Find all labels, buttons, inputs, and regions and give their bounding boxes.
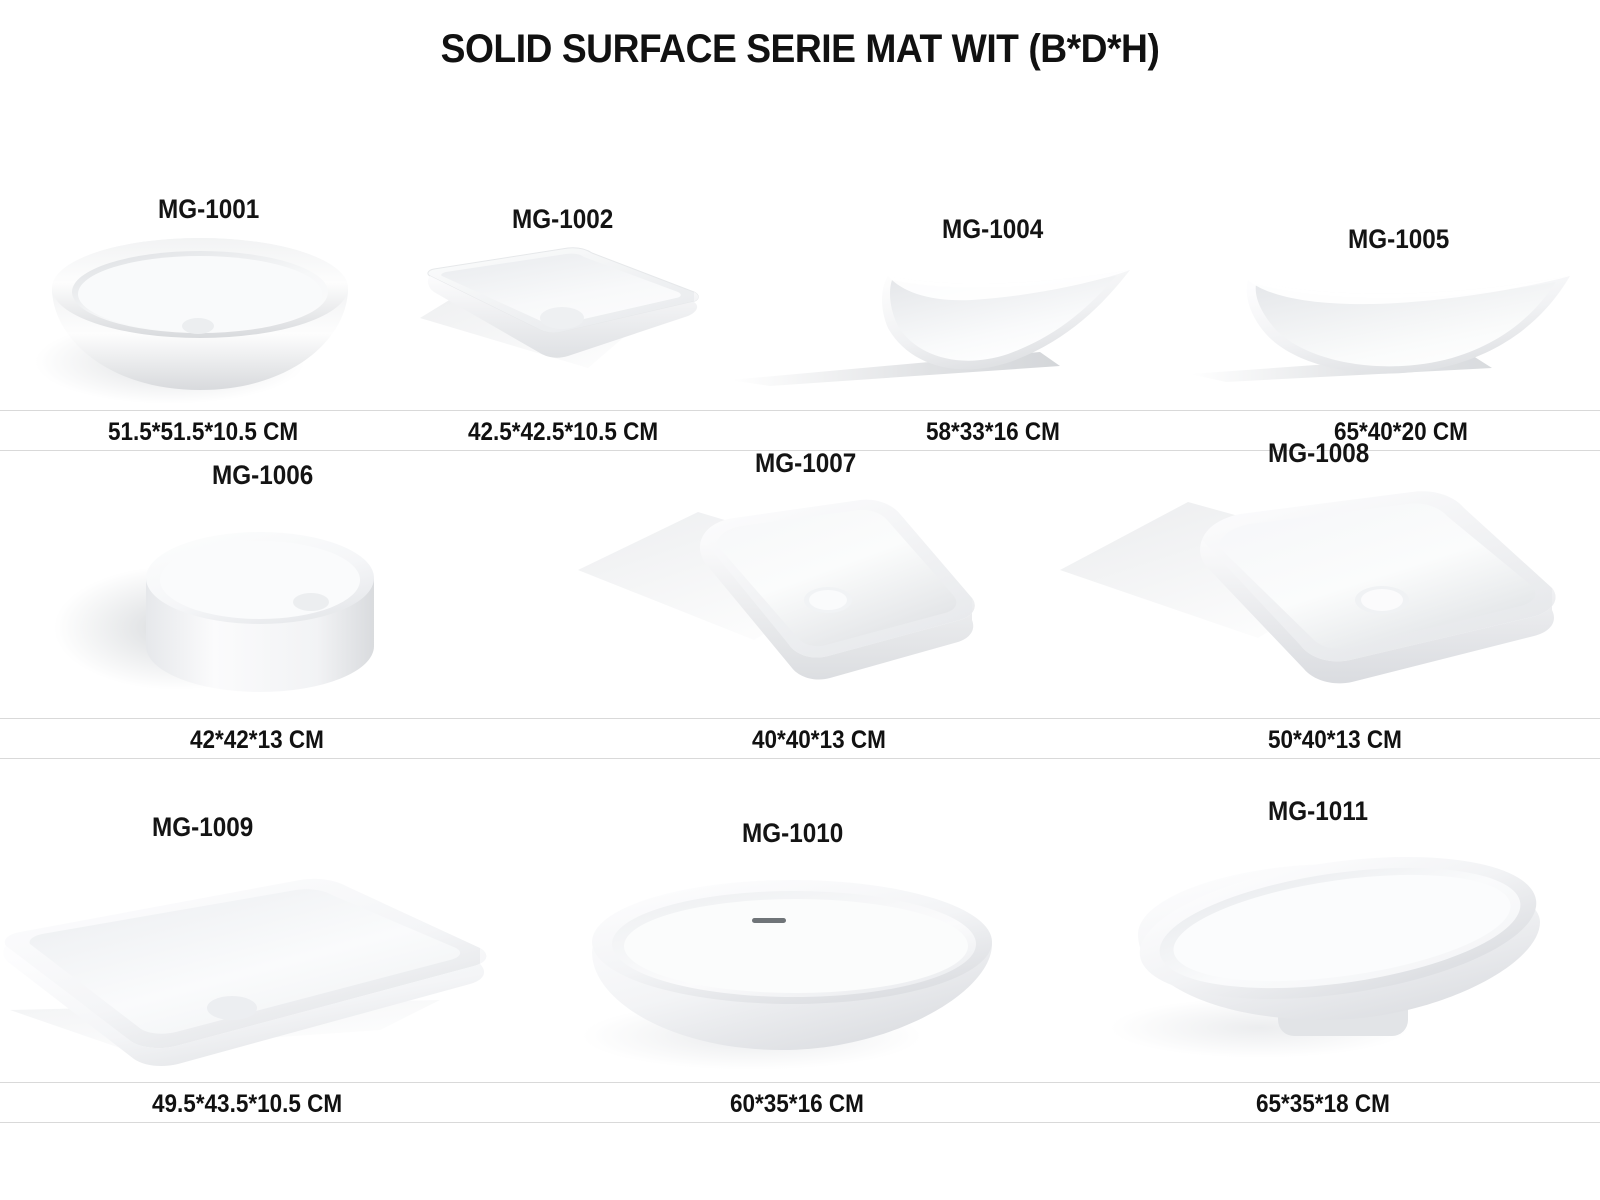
row-divider (0, 1122, 1600, 1123)
product-code-label: MG-1004 (942, 214, 1043, 245)
product-dimension-label: 42*42*13 CM (190, 726, 324, 755)
product-dimension-label: 50*40*13 CM (1268, 726, 1402, 755)
product-code-label: MG-1006 (212, 460, 313, 491)
basin-image-round-bowl (30, 230, 370, 410)
basin-image-wide-rectangle (0, 860, 500, 1080)
basin-image-deep-boat (1170, 250, 1590, 395)
basin-image-cylinder (46, 500, 446, 710)
product-cell-mg-1009: MG-1009 (0, 782, 520, 1082)
dimension-band-row-2: 42*42*13 CM 40*40*13 CM 50*40*13 CM (0, 719, 1600, 757)
basin-image-rectangle (1060, 484, 1580, 704)
basin-image-oval-egg (562, 860, 1022, 1080)
row-divider (0, 758, 1600, 759)
basin-image-boat-leaf (710, 244, 1150, 394)
product-cell-mg-1010: MG-1010 (520, 782, 1060, 1082)
basin-image-rounded-square (578, 490, 998, 700)
page-title: SOLID SURFACE SERIE MAT WIT (B*D*H) (56, 0, 1544, 70)
product-cell-mg-1008: MG-1008 (1040, 428, 1600, 718)
product-code-label: MG-1009 (152, 812, 253, 843)
product-code-label: MG-1001 (158, 194, 259, 225)
product-code-label: MG-1010 (742, 818, 843, 849)
product-code-label: MG-1007 (755, 448, 856, 479)
product-dimension-label: 40*40*13 CM (752, 726, 886, 755)
product-cell-mg-1006: MG-1006 (0, 428, 470, 718)
product-code-label: MG-1008 (1268, 438, 1369, 469)
basin-image-oval-pedestal (1100, 844, 1560, 1074)
dimension-band-row-3: 49.5*43.5*10.5 CM 60*35*16 CM 65*35*18 C… (0, 1083, 1600, 1121)
product-cell-mg-1005: MG-1005 (1170, 182, 1600, 412)
product-cell-mg-1007: MG-1007 (470, 428, 1040, 718)
product-cell-mg-1004: MG-1004 (730, 182, 1170, 412)
basin-image-square-bowl (412, 240, 722, 400)
product-cell-mg-1002: MG-1002 (400, 182, 730, 412)
product-cell-mg-1011: MG-1011 (1060, 782, 1600, 1082)
product-dimension-label: 49.5*43.5*10.5 CM (152, 1090, 342, 1119)
product-code-label: MG-1002 (512, 204, 613, 235)
product-cell-mg-1001: MG-1001 (0, 182, 400, 412)
product-dimension-label: 60*35*16 CM (730, 1090, 864, 1119)
product-dimension-label: 65*35*18 CM (1256, 1090, 1390, 1119)
product-code-label: MG-1011 (1268, 796, 1368, 827)
